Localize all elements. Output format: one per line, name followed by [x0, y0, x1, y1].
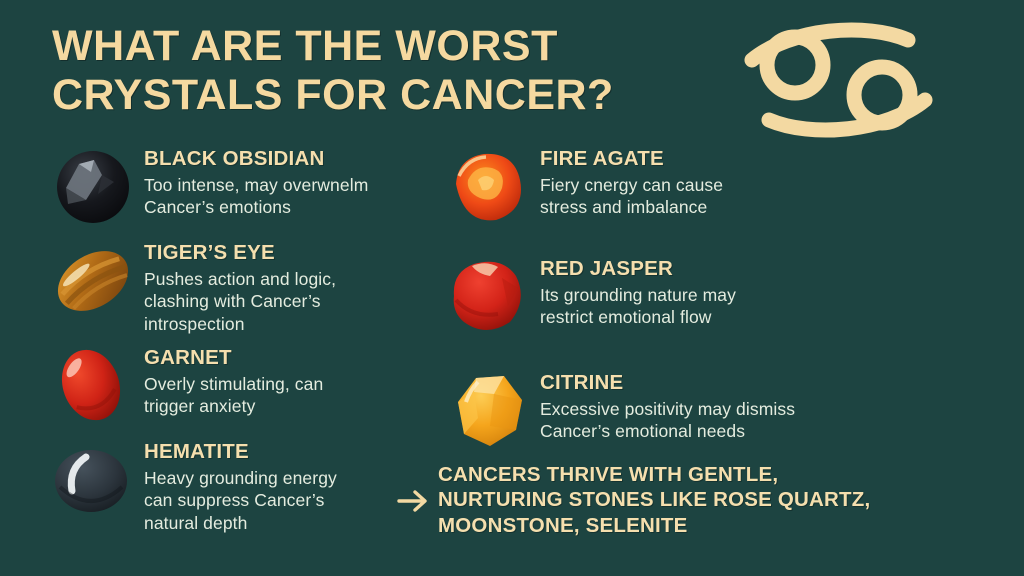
stone-description: Its grounding nature may restrict emotio…: [540, 284, 862, 329]
crystal-list-right: FIRE AGATE Fiery cnergy can cause stress…: [442, 142, 862, 464]
conclusion-callout: CANCERS THRIVE WITH GENTLE, NURTURING ST…: [396, 462, 996, 538]
list-item-black-obsidian[interactable]: BLACK OBSIDIAN Too intense, may overwnel…: [46, 142, 438, 230]
stone-description: Excessive positivity may dismiss Cancer’…: [540, 398, 862, 443]
desc-line: stress and imbalance: [540, 196, 862, 219]
stone-name: TIGER’S EYE: [144, 242, 438, 265]
list-item-tigers-eye[interactable]: TIGER’S EYE Pushes action and logic, cla…: [46, 236, 438, 335]
list-item-hematite[interactable]: HEMATITE Heavy grounding energy can supp…: [46, 435, 438, 534]
desc-line: Fiery cnergy can cause: [540, 174, 862, 197]
stone-name: RED JASPER: [540, 258, 862, 281]
desc-line: Cancer’s emotional needs: [540, 420, 862, 443]
desc-line: Cancer’s emotions: [144, 196, 438, 219]
entry-text: BLACK OBSIDIAN Too intense, may overwnel…: [144, 142, 438, 219]
black-obsidian-stone-icon: [46, 142, 138, 230]
citrine-stone-icon: [442, 366, 534, 454]
page-title-line-1: WHAT ARE THE WORST: [52, 22, 712, 71]
stone-description: Fiery cnergy can cause stress and imbala…: [540, 174, 862, 219]
stone-name: CITRINE: [540, 372, 862, 395]
fire-agate-stone-icon: [442, 142, 534, 230]
entry-text: RED JASPER Its grounding nature may rest…: [540, 252, 862, 329]
entry-text: GARNET Overly stimulating, can trigger a…: [144, 341, 438, 418]
desc-line: natural depth: [144, 512, 438, 535]
list-item-red-jasper[interactable]: RED JASPER Its grounding nature may rest…: [442, 252, 862, 340]
stone-description: Pushes action and logic, clashing with C…: [144, 268, 438, 336]
crystal-list-left: BLACK OBSIDIAN Too intense, may overwnel…: [46, 142, 438, 540]
page-title: WHAT ARE THE WORST CRYSTALS FOR CANCER?: [52, 22, 712, 120]
list-item-fire-agate[interactable]: FIRE AGATE Fiery cnergy can cause stress…: [442, 142, 862, 230]
desc-line: restrict emotional flow: [540, 306, 862, 329]
stone-name: FIRE AGATE: [540, 148, 862, 171]
list-item-citrine[interactable]: CITRINE Excessive positivity may dismiss…: [442, 366, 862, 454]
entry-text: HEMATITE Heavy grounding energy can supp…: [144, 435, 438, 534]
tigers-eye-stone-icon: [46, 236, 138, 324]
desc-line: Pushes action and logic,: [144, 268, 438, 291]
desc-line: can suppress Cancer’s: [144, 489, 438, 512]
conclusion-line: MOONSTONE, SELENITE: [438, 513, 870, 538]
conclusion-line: CANCERS THRIVE WITH GENTLE,: [438, 462, 870, 487]
conclusion-text: CANCERS THRIVE WITH GENTLE, NURTURING ST…: [438, 462, 870, 538]
cancer-zodiac-icon: [741, 14, 936, 144]
list-item-garnet[interactable]: GARNET Overly stimulating, can trigger a…: [46, 341, 438, 429]
conclusion-line: NURTURING STONES LIKE ROSE QUARTZ,: [438, 487, 870, 512]
entry-text: FIRE AGATE Fiery cnergy can cause stress…: [540, 142, 862, 219]
desc-line: introspection: [144, 313, 438, 336]
desc-line: Overly stimulating, can: [144, 373, 438, 396]
entry-text: CITRINE Excessive positivity may dismiss…: [540, 366, 862, 443]
stone-name: HEMATITE: [144, 441, 438, 464]
arrow-right-icon: [396, 486, 430, 516]
stone-description: Heavy grounding energy can suppress Canc…: [144, 467, 438, 535]
stone-description: Too intense, may overwnelm Cancer’s emot…: [144, 174, 438, 219]
desc-line: Heavy grounding energy: [144, 467, 438, 490]
stone-description: Overly stimulating, can trigger anxiety: [144, 373, 438, 418]
desc-line: Its grounding nature may: [540, 284, 862, 307]
desc-line: clashing with Cancer’s: [144, 290, 438, 313]
desc-line: Too intense, may overwnelm: [144, 174, 438, 197]
entry-text: TIGER’S EYE Pushes action and logic, cla…: [144, 236, 438, 335]
desc-line: Excessive positivity may dismiss: [540, 398, 862, 421]
page-title-line-2: CRYSTALS FOR CANCER?: [52, 71, 712, 120]
hematite-stone-icon: [46, 435, 138, 523]
desc-line: trigger anxiety: [144, 395, 438, 418]
stone-name: GARNET: [144, 347, 438, 370]
garnet-stone-icon: [46, 341, 138, 429]
stone-name: BLACK OBSIDIAN: [144, 148, 438, 171]
red-jasper-stone-icon: [442, 252, 534, 340]
